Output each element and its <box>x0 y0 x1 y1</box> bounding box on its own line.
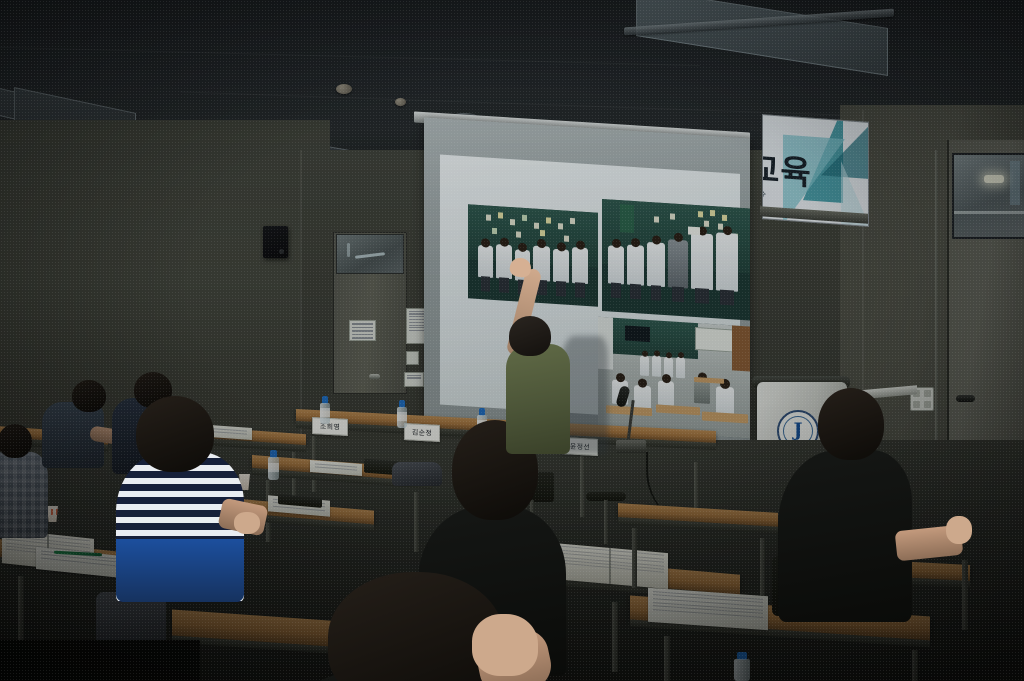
name-placard: 조희영 <box>312 417 348 436</box>
bag <box>392 462 442 486</box>
door-notice <box>349 320 376 341</box>
door-handle[interactable] <box>369 374 380 379</box>
table-leg <box>632 528 637 588</box>
corridor-pillar <box>1010 161 1020 205</box>
attendee-head <box>136 396 214 472</box>
door-handle[interactable] <box>956 395 975 402</box>
classroom-photo: 교육 연수 <box>0 0 1024 681</box>
attendee-head <box>0 424 32 458</box>
classroom-wall-charts <box>695 327 733 352</box>
presenter-head <box>509 316 551 356</box>
table-leg <box>962 560 968 630</box>
table-leg <box>664 636 670 681</box>
stool-leg <box>604 500 608 544</box>
water-bottle <box>268 450 279 480</box>
banner-title: 교육 <box>762 142 812 195</box>
water-bottle <box>397 400 407 428</box>
table-leg <box>414 492 419 552</box>
attendee-hand <box>472 614 538 676</box>
attendee-torso <box>778 450 912 622</box>
attendee-head <box>72 380 106 412</box>
slide-photo-b <box>602 199 750 321</box>
water-bottle <box>734 652 750 681</box>
smoke-detector-icon <box>336 84 352 94</box>
light-switch[interactable] <box>406 351 419 365</box>
right-door-transom-window <box>952 153 1024 239</box>
name-placard: 김순정 <box>404 423 440 442</box>
window-sill <box>954 211 1024 214</box>
attendee-hand <box>946 516 972 544</box>
attendee-head <box>818 388 884 460</box>
foreground-shadow <box>0 640 200 681</box>
table-leg <box>760 538 765 596</box>
corridor-light <box>355 252 385 259</box>
corridor-pillar <box>347 243 350 257</box>
wall-corner <box>300 150 302 480</box>
slide-photo-c <box>598 317 750 439</box>
attendee-hand <box>234 512 260 534</box>
microphone-base <box>616 440 646 453</box>
sprinkler-head-icon <box>395 98 406 106</box>
left-door-transom-window <box>336 234 404 274</box>
corridor-light <box>984 175 1004 183</box>
wall-speaker <box>263 226 288 258</box>
classroom-monitor <box>625 325 649 342</box>
water-bottle <box>320 396 330 424</box>
table-leg <box>912 650 918 681</box>
table-leg <box>580 455 585 517</box>
presenter-torso <box>506 344 570 454</box>
wall-notice-small <box>404 372 424 387</box>
banner-subtitle: 연수 <box>762 189 766 199</box>
crest-letter: J <box>779 419 817 441</box>
attendee-torso <box>0 452 48 538</box>
table-leg <box>612 602 618 672</box>
